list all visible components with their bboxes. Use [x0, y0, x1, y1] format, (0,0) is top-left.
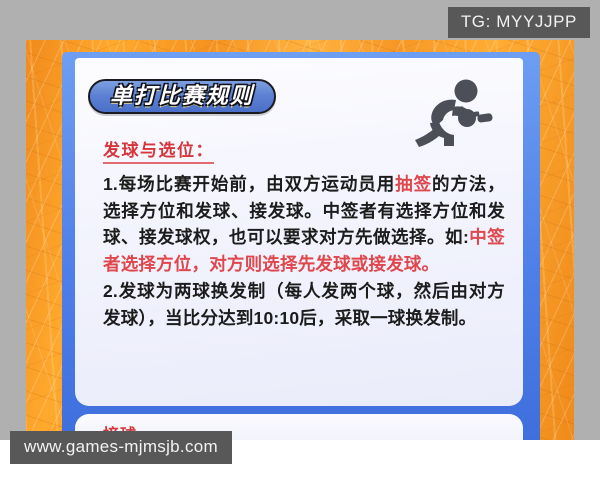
rules-body: 发球与选位： 1.每场比赛开始前，由双方运动员用抽签的方法，选择方位和发球、接发…	[103, 136, 505, 333]
screenshot-root: 单打比赛规则 发球与选位： 1.每场比赛开始前，由	[0, 0, 600, 480]
card-title-text: 单打比赛规则	[110, 84, 254, 107]
rule-paragraph-2: 2.发球为两球换发制（每人发两个球，然后由对方发球），当比分达到10:10后，采…	[103, 278, 505, 331]
rules-card: 单打比赛规则 发球与选位： 1.每场比赛开始前，由	[75, 58, 523, 406]
section-heading: 发球与选位：	[103, 136, 214, 164]
rule-1-run-0: 1.每场比赛开始前，由双方运动员用	[103, 174, 395, 194]
rule-paragraph-1: 1.每场比赛开始前，由双方运动员用抽签的方法，选择方位和发球、接发球。中签者有选…	[103, 171, 505, 277]
rule-2-run-0: 2.发球为两球换发制（每人发两个球，然后由对方发球），当比分达到10:10后，采…	[103, 281, 505, 328]
telegram-watermark: TG: MYYJJPP	[448, 7, 590, 38]
website-watermark: www.games-mjmsjb.com	[10, 431, 232, 464]
card-title-badge: 单打比赛规则	[88, 79, 276, 114]
rule-1-run-1-highlight: 抽签	[395, 174, 432, 194]
